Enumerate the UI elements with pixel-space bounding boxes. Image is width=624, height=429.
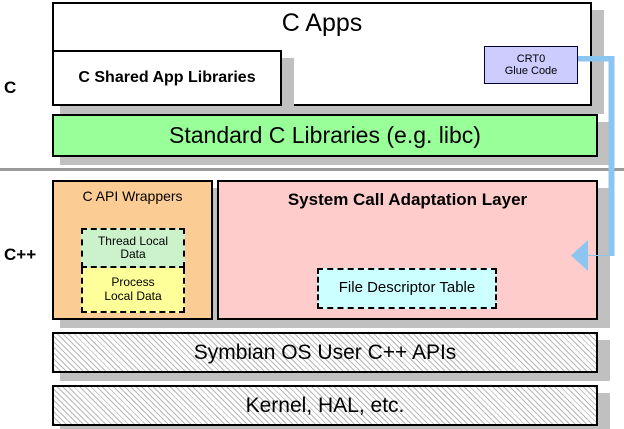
block-thread-local-data-label-line1: Thread Local — [98, 235, 168, 248]
block-c-api-wrappers-label: C API Wrappers — [82, 189, 182, 205]
block-crt0-label-line2: Glue Code — [505, 65, 558, 77]
block-process-local-data: Process Local Data — [81, 268, 185, 313]
block-crt0-glue-code: CRT0 Glue Code — [484, 46, 578, 84]
block-standard-c-libraries: Standard C Libraries (e.g. libc) — [52, 114, 598, 157]
tier-label-cpp: C++ — [4, 245, 36, 265]
block-thread-local-data: Thread Local Data — [81, 228, 185, 268]
block-c-shared-app-libraries: C Shared App Libraries — [52, 50, 282, 106]
block-thread-local-data-label-line2: Data — [120, 248, 145, 261]
block-c-shared-app-libraries-label: C Shared App Libraries — [78, 69, 255, 87]
block-kernel-hal: Kernel, HAL, etc. — [52, 385, 598, 426]
block-crt0-label-line1: CRT0 — [517, 53, 546, 65]
block-symbian-os-user-apis: Symbian OS User C++ APIs — [52, 332, 598, 373]
block-file-descriptor-table-label: File Descriptor Table — [339, 280, 475, 297]
block-system-call-adaptation-layer-label: System Call Adaptation Layer — [288, 190, 527, 209]
block-process-local-data-label-line2: Local Data — [104, 290, 161, 303]
block-c-apps-label: C Apps — [282, 9, 363, 37]
block-file-descriptor-table: File Descriptor Table — [317, 268, 497, 309]
tier-label-c: C — [4, 78, 16, 98]
tier-divider — [0, 168, 624, 171]
block-standard-c-libraries-label: Standard C Libraries (e.g. libc) — [169, 123, 481, 149]
architecture-diagram: C C++ C Apps C Shared App Libraries CRT0… — [0, 0, 624, 429]
block-process-local-data-label-line1: Process — [111, 276, 154, 289]
block-symbian-os-user-apis-label: Symbian OS User C++ APIs — [194, 341, 457, 365]
block-kernel-hal-label: Kernel, HAL, etc. — [246, 394, 405, 418]
